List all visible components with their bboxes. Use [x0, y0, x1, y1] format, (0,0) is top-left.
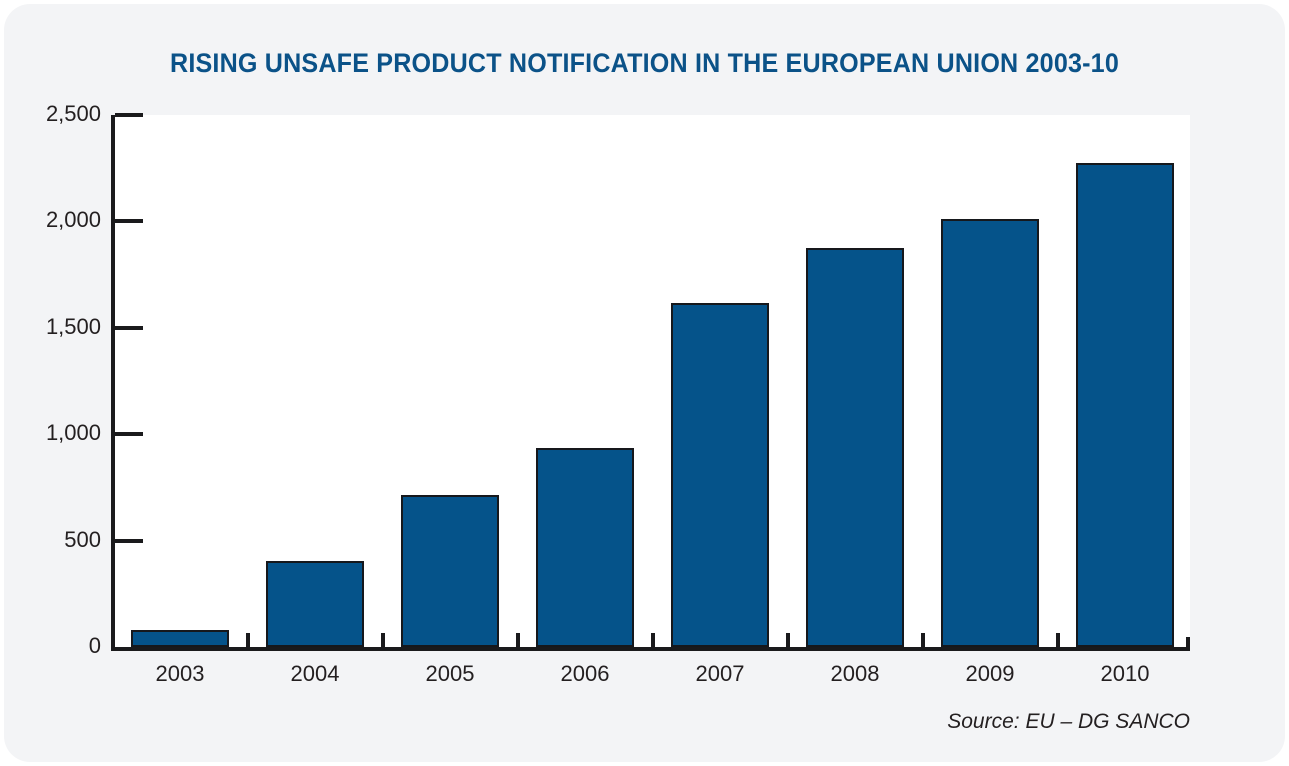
y-axis-tick [115, 113, 143, 117]
x-axis-tick [1056, 633, 1060, 647]
x-axis-tick [651, 633, 655, 647]
y-axis-tick [115, 326, 143, 330]
chart-panel: RISING UNSAFE PRODUCT NOTIFICATION IN TH… [4, 4, 1285, 762]
x-axis-label-2005: 2005 [380, 661, 520, 687]
x-axis-label-2007: 2007 [650, 661, 790, 687]
y-axis-tick-label: 2,500 [0, 101, 101, 127]
x-axis-tick [246, 633, 250, 647]
bar-2007[interactable] [671, 303, 769, 647]
chart-plot-area [111, 115, 1190, 651]
bar-2004[interactable] [266, 561, 364, 647]
bar-2008[interactable] [806, 248, 904, 647]
bar-2009[interactable] [941, 219, 1039, 647]
x-axis-tick [381, 633, 385, 647]
y-axis-tick-label: 1,000 [0, 420, 101, 446]
x-axis-label-2004: 2004 [245, 661, 385, 687]
y-axis-tick [115, 539, 143, 543]
y-axis-tick-label: 0 [0, 633, 101, 659]
x-axis-label-2009: 2009 [920, 661, 1060, 687]
x-axis-end-tick [1186, 637, 1190, 651]
x-axis-tick [921, 633, 925, 647]
chart-title: RISING UNSAFE PRODUCT NOTIFICATION IN TH… [49, 48, 1240, 79]
x-axis-label-2008: 2008 [785, 661, 925, 687]
y-axis-tick [115, 219, 143, 223]
bar-2006[interactable] [536, 448, 634, 647]
y-axis-tick [115, 432, 143, 436]
x-axis-tick [786, 633, 790, 647]
y-axis-tick-label: 1,500 [0, 314, 101, 340]
x-axis-line [111, 647, 1190, 651]
source-note: Source: EU – DG SANCO [947, 710, 1190, 734]
bar-2005[interactable] [401, 495, 499, 647]
y-axis-tick-label: 2,000 [0, 207, 101, 233]
x-axis-label-2010: 2010 [1055, 661, 1195, 687]
x-axis-tick [516, 633, 520, 647]
y-axis-line [111, 115, 115, 651]
x-axis-label-2003: 2003 [110, 661, 250, 687]
x-axis-label-2006: 2006 [515, 661, 655, 687]
y-axis-tick-label: 500 [0, 527, 101, 553]
bar-2010[interactable] [1076, 163, 1174, 647]
bar-2003[interactable] [131, 630, 229, 647]
